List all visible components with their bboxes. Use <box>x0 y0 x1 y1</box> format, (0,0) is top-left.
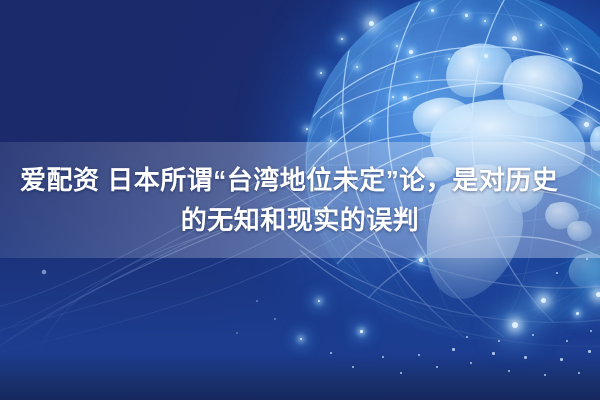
promo-banner: 爱配资 日本所谓“台湾地位未定”论，是对历史 的无知和现实的误判 <box>0 0 600 400</box>
headline-line-1: 爱配资 日本所谓“台湾地位未定”论，是对历史 <box>20 160 580 200</box>
headline-line-2: 的无知和现实的误判 <box>20 200 580 240</box>
bottom-edge-shade <box>0 354 600 400</box>
banner-headline: 爱配资 日本所谓“台湾地位未定”论，是对历史 的无知和现实的误判 <box>0 142 600 258</box>
